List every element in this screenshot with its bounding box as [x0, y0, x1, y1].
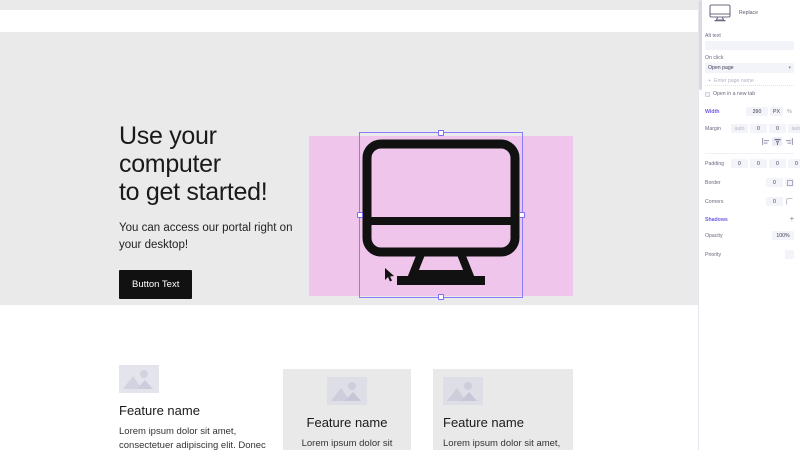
padding-row: Padding	[699, 157, 800, 170]
width-label: Width	[705, 109, 731, 115]
feature-card-3[interactable]: Feature name Lorem ipsum dolor sit amet,…	[433, 369, 573, 450]
on-click-select[interactable]: Open page ▾	[705, 63, 794, 73]
open-new-tab-label: Open in a new tab	[713, 91, 755, 97]
hero-title-line1: Use your computer	[119, 122, 221, 178]
replace-image-button[interactable]: Replace	[739, 10, 758, 16]
plus-icon: +	[708, 78, 711, 84]
border-label: Border	[705, 180, 731, 186]
site-navbar[interactable]	[0, 10, 698, 32]
priority-row: Priority	[699, 248, 800, 261]
mouse-cursor-icon	[385, 268, 395, 282]
padding-bottom-input[interactable]	[769, 159, 786, 168]
image-thumbnail-row: Replace	[699, 0, 800, 28]
border-row: Border	[699, 176, 800, 189]
plus-icon[interactable]: +	[790, 216, 794, 223]
chevron-down-icon: ▾	[788, 65, 791, 71]
margin-align-row	[699, 135, 800, 150]
margin-top-input[interactable]	[731, 124, 748, 133]
opacity-value[interactable]: 100%	[772, 231, 794, 240]
opacity-label: Opacity	[705, 233, 731, 239]
corners-label: Corners	[705, 199, 731, 205]
corner-radius-icon[interactable]	[785, 197, 794, 206]
priority-label: Priority	[705, 252, 731, 258]
feature-card-title: Feature name	[293, 415, 401, 430]
website-canvas[interactable]: Use your computer to get started! You ca…	[0, 0, 698, 450]
align-right-icon[interactable]	[784, 137, 794, 146]
priority-toggle[interactable]	[785, 250, 794, 259]
image-placeholder-icon	[443, 377, 483, 405]
on-click-selected-value: Open page	[708, 65, 734, 71]
percent-icon[interactable]: %	[785, 107, 794, 116]
feature-card-1[interactable]: Feature name Lorem ipsum dolor sit amet,…	[119, 365, 269, 450]
margin-row: Margin	[699, 122, 800, 135]
hero-title: Use your computer to get started!	[119, 122, 309, 206]
margin-label: Margin	[705, 126, 731, 132]
hero-section[interactable]: Use your computer to get started! You ca…	[0, 32, 698, 305]
feature-card-2[interactable]: Feature name Lorem ipsum dolor sit amet,…	[283, 369, 411, 450]
feature-card-body: Lorem ipsum dolor sit amet, consectetuer…	[119, 425, 269, 450]
feature-card-body: Lorem ipsum dolor sit amet, consectetuer…	[293, 437, 401, 450]
app-root: Use your computer to get started! You ca…	[0, 0, 800, 450]
alt-text-label: Alt text	[699, 28, 800, 41]
alt-text-input[interactable]	[705, 41, 794, 50]
feature-card-title: Feature name	[443, 415, 563, 430]
align-left-icon[interactable]	[760, 137, 770, 146]
padding-left-input[interactable]	[788, 159, 800, 168]
features-section: Feature name Lorem ipsum dolor sit amet,…	[0, 305, 698, 450]
open-new-tab-row[interactable]: Open in a new tab	[699, 86, 800, 101]
hero-cta-button[interactable]: Button Text	[119, 270, 192, 299]
align-center-icon[interactable]	[772, 137, 782, 146]
panel-scrollbar[interactable]	[699, 0, 702, 90]
page-name-field[interactable]: + Enter page name	[705, 77, 794, 86]
shadows-row[interactable]: Shadows +	[699, 212, 800, 227]
width-row: Width PX %	[699, 105, 800, 118]
hero-subtitle: You can access our portal right on your …	[119, 220, 309, 254]
image-placeholder-icon	[327, 377, 367, 405]
padding-label: Padding	[705, 161, 731, 167]
page-name-placeholder: Enter page name	[714, 78, 754, 84]
margin-left-input[interactable]	[788, 124, 800, 133]
hero-title-line2: to get started!	[119, 178, 267, 206]
opacity-row: Opacity 100%	[699, 229, 800, 242]
properties-panel[interactable]: Replace Alt text On click Open page ▾ + …	[698, 0, 800, 450]
margin-bottom-input[interactable]	[769, 124, 786, 133]
corners-radius-input[interactable]	[766, 197, 783, 206]
feature-card-title: Feature name	[119, 403, 269, 418]
margin-right-input[interactable]	[750, 124, 767, 133]
on-click-label: On click	[699, 50, 800, 63]
image-placeholder-icon	[119, 365, 159, 393]
border-style-icon[interactable]	[785, 178, 794, 187]
shadows-label: Shadows	[705, 217, 728, 223]
hero-monitor-image[interactable]	[359, 132, 523, 300]
hero-text-block: Use your computer to get started! You ca…	[119, 122, 309, 299]
padding-right-input[interactable]	[750, 159, 767, 168]
border-width-input[interactable]	[766, 178, 783, 187]
desktop-monitor-icon	[707, 3, 733, 23]
feature-card-body: Lorem ipsum dolor sit amet, consectetuer…	[443, 437, 563, 450]
panel-divider	[705, 153, 794, 154]
corners-row: Corners	[699, 195, 800, 208]
padding-top-input[interactable]	[731, 159, 748, 168]
open-new-tab-checkbox[interactable]	[705, 92, 710, 97]
width-unit-toggle[interactable]: PX	[770, 107, 783, 116]
width-input[interactable]	[746, 107, 768, 116]
